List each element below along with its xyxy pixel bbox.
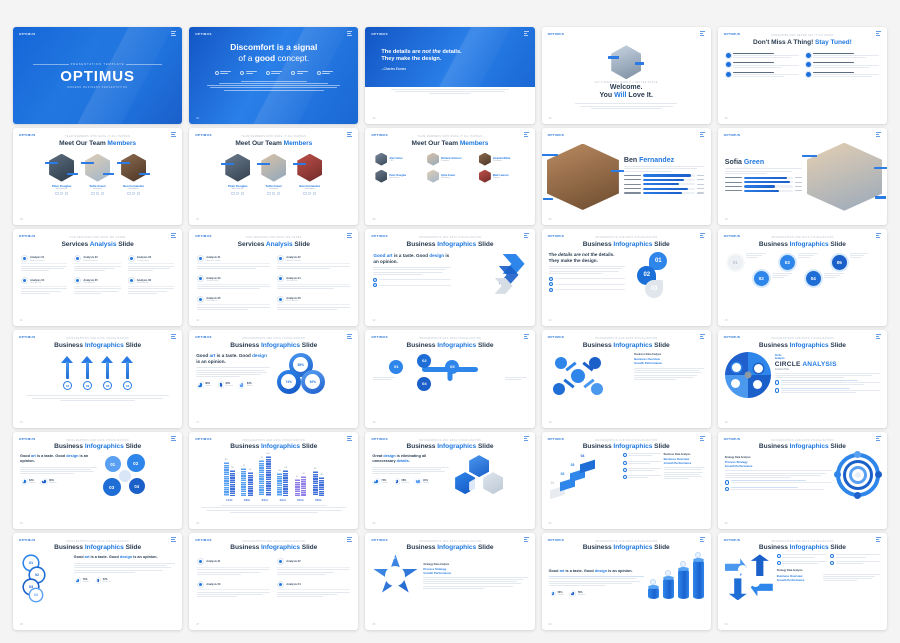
analysis-card[interactable]: Analysis 02 [277,558,350,576]
molecule-diagram [549,353,630,397]
skill-label [624,184,642,185]
slide-thumbnail-25[interactable]: OPTIMUS 25 INFOGRAPHICS AND DATA VISUALI… [718,432,887,529]
slide-thumbnail-1[interactable]: OPTIMUS PRESENTATION TEMPLATE OPTIMUS MO… [13,27,182,124]
slide-thumbnail-8[interactable]: OPTIMUS 08 TEAM MEMBERS WHO MAKE IT ALL … [365,128,534,225]
list-item[interactable] [549,282,626,286]
slide-title: Business Infographics Slide [718,544,887,551]
social-icons[interactable] [85,192,110,195]
check-icon [549,277,553,281]
trefoil-diagram: 85% 74% 92% [274,353,352,401]
circle-icon [277,558,284,565]
avatar [225,154,250,182]
list-item[interactable] [726,72,799,79]
social-icons[interactable] [297,192,322,195]
x-tick: 12m [224,498,235,502]
list-item[interactable] [623,468,661,472]
avatar [121,154,146,182]
list-item[interactable] [806,62,879,69]
slide-thumbnail-12[interactable]: OPTIMUS 12 OUR SERVICES AND WHAT WE OFFE… [189,229,358,326]
team-member-card[interactable]: Sofia Green Designer [85,154,110,195]
slide-thumbnail-19[interactable]: OPTIMUS 19 INFOGRAPHICS AND DATA VISUALI… [542,330,711,427]
circle-icon [240,71,244,75]
facebook-icon [127,192,130,195]
cylinder-bar [693,560,704,599]
facebook-icon [267,192,270,195]
slide-thumbnail-30[interactable]: OPTIMUS 30 INFOGRAPHICS AND DATA VISUALI… [718,533,887,630]
slide-thumbnail-27[interactable]: OPTIMUS 27 INFOGRAPHICS AND DATA VISUALI… [189,533,358,630]
feature-list [775,380,880,393]
profile-photo [547,144,619,210]
feature-item [317,71,334,75]
slide-thumbnail-20[interactable]: OPTIMUS 20 INFOGRAPHICS AND DATA VISUALI… [718,330,887,427]
donut-icon [216,381,224,389]
slide-kicker: INFOGRAPHICS AND DATA VISUALIZATION [365,338,534,340]
paragraph [423,577,527,589]
list-item[interactable] [830,561,880,565]
team-member-card[interactable]: Amanda WhiteDeveloper [479,153,525,166]
service-card[interactable]: Analysis 02Market Research [74,255,120,273]
x-tick: 06m [295,498,306,502]
services-grid: Analysis 01Business Growth Analysis 02Ma… [13,255,182,295]
stat-item: 58%Revenue [393,478,410,486]
slide-thumbnail-14[interactable]: OPTIMUS 14 INFOGRAPHICS AND DATA VISUALI… [542,229,711,326]
arrow-diagram [456,253,526,297]
donut-icon [372,478,380,486]
node-02[interactable]: 02 [127,454,145,472]
service-card[interactable]: Analysis 01Business Growth [21,255,67,273]
slide-body: INFOGRAPHICS AND DATA VISUALIZATION Busi… [542,432,711,529]
slide-body: The details are not the details. They ma… [365,27,534,124]
team-member-card[interactable]: Ben Fernandez Developer [121,154,146,195]
service-card[interactable]: Analysis 04Strategy Plan [277,275,350,290]
step-arrow-04[interactable]: 04 [121,356,134,391]
section-heading: Good art is a taste. Good design is an o… [196,353,270,364]
welcome-title: Welcome. [610,84,643,92]
check-icon [373,278,377,282]
team-member-card[interactable]: Richard JohnsonDesigner [427,153,473,166]
stairs-midlist [623,453,661,499]
team-member-card[interactable]: Ben Fernandez Developer [297,154,322,195]
facebook-icon [303,192,306,195]
circle-icon [291,71,295,75]
bullet-icon [806,72,811,77]
x-tick: 25m [259,498,270,502]
bullet-icon [726,62,731,67]
slide-kicker: INFOGRAPHICS AND DATA VISUALIZATION [13,440,182,442]
list-item[interactable] [775,388,880,394]
side-subtitle-2: Growth Performance [777,578,820,582]
skill-label [624,188,642,189]
skill-row [725,190,802,192]
clock-icon [74,255,81,262]
bullet-icon [725,487,729,491]
skill-value [697,175,703,176]
circles-chain-diagram: 01 02 03 04 [20,555,70,601]
team-member-card[interactable]: Alex CarterCEO [375,153,421,166]
social-icons[interactable] [121,192,146,195]
twitter-icon [236,192,239,195]
list-item[interactable] [725,480,832,484]
slide-title: Services Analysis Slide [13,241,182,248]
clock-icon [128,277,135,284]
check-icon [277,296,284,303]
slide-body: INFOGRAPHICS AND DATA VISUALIZATION Busi… [718,432,887,529]
check-icon [277,275,284,282]
section-heading: Good art is a taste. Good design is an o… [373,253,451,264]
stairs-diagram: 01 02 03 04 [548,453,620,499]
bullet-icon [777,554,781,558]
section-heading: Good art is a taste. Good design is an o… [20,454,97,463]
slide-thumbnail-15[interactable]: OPTIMUS 15 INFOGRAPHICS AND DATA VISUALI… [718,229,887,326]
skill-row [725,185,802,187]
skill-list [624,174,704,194]
service-card[interactable]: Analysis 06Brand Identity [128,277,174,295]
paragraph [20,467,97,474]
skill-value [697,192,703,193]
social-icons[interactable] [225,192,250,195]
slide-body: OUR SERVICES AND WHAT WE OFFER Services … [189,229,358,326]
step-badge-05[interactable]: 05 [832,255,847,270]
stat-item: 52%Revenue [94,577,111,585]
circle-icon [266,71,270,75]
list-item[interactable] [549,277,626,281]
slide-title: Don't Miss A Thing! Stay Tuned! [718,39,887,46]
skill-list [725,177,802,192]
list-item[interactable] [623,453,661,457]
team-member-card[interactable]: Peter DouglasArt Director [375,170,421,183]
skill-row [624,192,704,194]
list-item[interactable] [726,62,799,69]
circle-analysis-diagram [725,352,771,398]
analysis-card[interactable]: Analysis 01 [197,558,270,576]
team-member-card[interactable]: Peter Douglas Art Director [49,154,74,195]
slide-title: Business Infographics Slide [365,342,534,349]
slide-body: INFOGRAPHICS AND DATA VISUALIZATION Busi… [189,533,358,630]
slide-title: Services Analysis Slide [189,241,358,248]
slide-body: Sofia Green [718,128,887,225]
skill-row [624,179,704,181]
node-icon [665,570,671,576]
accent-bar [608,56,619,58]
slide-body: INFOGRAPHICS AND DATA VISUALIZATION Busi… [365,229,534,326]
feature-item [215,71,232,75]
slide-thumbnail-18[interactable]: OPTIMUS 18 INFOGRAPHICS AND DATA VISUALI… [365,330,534,427]
skill-value [795,190,801,191]
linkedin-icon [65,192,68,195]
bullet-icon [623,453,627,457]
slide-body: Ben Fernandez [542,128,711,225]
node-02[interactable]: 02 [417,354,431,368]
node-01[interactable]: 01 [105,456,121,472]
mini-stats: 62%Growth 80%Revenue [20,478,97,486]
node-03[interactable]: 03 [103,478,121,496]
paragraph [372,467,449,474]
donut-icon [20,478,28,486]
donut-icon [569,590,577,598]
service-card[interactable]: Analysis 01Business Growth [197,255,270,270]
skill-label [624,192,642,193]
step-text [850,253,868,260]
x-tick: 48m [241,498,252,502]
social-icons[interactable] [261,192,286,195]
bullet-list [718,53,887,79]
cylinder-bar [663,578,674,599]
footer-paragraph [198,505,349,512]
slide-thumbnail-17[interactable]: OPTIMUS 17 INFOGRAPHICS AND DATA VISUALI… [189,330,358,427]
node-icon [695,552,701,558]
slide-thumbnail-7[interactable]: OPTIMUS 07 TEAM MEMBERS WHO MAKE IT ALL … [189,128,358,225]
service-card[interactable]: Analysis 04Strategy Plan [21,277,67,295]
service-card[interactable]: Analysis 05Data Reports [74,277,120,295]
stat-item: 80%Revenue [40,478,57,486]
list-item[interactable] [806,72,879,79]
bar-chart-labels: 12m 48m 25m 10m 06m 08m [189,498,358,502]
social-icons[interactable] [49,192,74,195]
team-member-card[interactable]: Sofia GreenMarketing [427,170,473,183]
skill-value [697,179,703,180]
list-item[interactable] [373,278,451,282]
ring-chart-left[interactable]: 74% [277,370,301,394]
section-heading-2: They make the design. [549,258,626,264]
service-card[interactable]: Analysis 02Market Research [277,255,350,270]
list-item[interactable] [623,475,661,479]
paragraph [823,574,880,583]
slide-body: TEAM MEMBERS WHO MAKE IT ALL HAPPEN Meet… [189,128,358,225]
node-04[interactable]: 04 [417,377,431,391]
slide-thumbnail-4[interactable]: OPTIMUS 04 LET'S MAKE THE WORLD A BETTER… [542,27,711,124]
slide-kicker: INFOGRAPHICS AND DATA VISUALIZATION [189,338,358,340]
list-item[interactable] [777,561,827,565]
hub-diagram: 01 02 03 04 [365,353,534,397]
list-item[interactable] [806,53,879,60]
slide-body: INFOGRAPHICS AND DATA VISUALIZATION Busi… [13,330,182,427]
slide-kicker: INFOGRAPHICS AND DATA VISUALIZATION [365,541,534,543]
list-item[interactable] [777,554,827,558]
slide-thumbnail-9[interactable]: OPTIMUS 09 Ben Fernandez [542,128,711,225]
slide-thumbnail-10[interactable]: OPTIMUS 10 Sofia Green [718,128,887,225]
step-badge-04[interactable]: 04 [806,271,821,286]
skill-row [725,177,802,179]
team-member-role: Art Director [225,188,250,190]
slide-kicker: INFOGRAPHICS AND DATA VISUALIZATION [542,541,711,543]
slide-thumbnail-29[interactable]: OPTIMUS 29 INFOGRAPHICS AND DATA VISUALI… [542,533,711,630]
team-member-role: Developer [121,188,146,190]
team-member-role: Designer [441,160,461,162]
paragraph [196,367,270,377]
node-01[interactable]: 01 [389,360,403,374]
ring-chart-right[interactable]: 92% [301,370,325,394]
skill-row [624,183,704,185]
slide-thumbnail-21[interactable]: OPTIMUS 21 INFOGRAPHICS AND DATA VISUALI… [13,432,182,529]
node-04[interactable]: 04 [129,478,145,494]
mini-stats: 70%Growth 52%Revenue [74,577,176,585]
bullet-icon [726,72,731,77]
cover-title: OPTIMUS [60,69,135,84]
node-text [505,377,527,381]
slide-thumbnail-22[interactable]: OPTIMUS 22 INFOGRAPHICS AND DATA VISUALI… [189,432,358,529]
quote-paragraph [381,89,518,94]
services-grid: Analysis 01Business Growth Analysis 02Ma… [189,255,358,311]
check-icon [197,275,204,282]
bubble-diagram: 01 02 03 04 [101,454,175,500]
slide-title: Business Infographics Slide [13,443,182,450]
team-member-role: Designer [85,188,110,190]
service-card[interactable]: Analysis 03Creative Ideas [128,255,174,273]
bullet-icon [806,53,811,58]
bar-group: 6448 [313,471,324,496]
team-member-card[interactable]: Peter Douglas Art Director [225,154,250,195]
slide-body: INFOGRAPHICS AND DATA VISUALIZATION Busi… [365,432,534,529]
slide-body: TEAM MEMBERS WHO MAKE IT ALL HAPPEN Meet… [13,128,182,225]
blob-diagram: 01 02 03 [629,252,703,300]
step-arrow-01[interactable]: 01 [61,356,74,391]
list-item[interactable] [373,283,451,287]
slide-title: Business Infographics Slide [365,443,534,450]
stat-item: 45%Revenue [216,381,233,389]
slide-body: INFOGRAPHICS AND DATA VISUALIZATION Busi… [13,432,182,529]
circle-icon [197,581,204,588]
bullet-icon [623,475,627,479]
analysis-grid: Analysis 01 Analysis 02 Analysis 03 Anal… [189,558,358,598]
slide-title: Business Infographics Slide [189,443,358,450]
slide-title: Business Infographics Slide [542,342,711,349]
circle-icon [197,558,204,565]
cylinder-chart [648,555,704,599]
slide-body: TEAM MEMBERS WHO MAKE IT ALL HAPPEN Meet… [365,128,534,225]
side-title: Business Data Analysis [634,353,704,356]
step-text [798,253,818,260]
step-badge-03[interactable]: 03 [645,280,663,298]
slide-title: Business Infographics Slide [365,544,534,551]
eyebrow-2: Analysis [775,357,880,360]
list-item[interactable] [623,461,661,465]
team-member-card[interactable]: Mark LawsonSupport [479,170,525,183]
skill-label [725,182,742,183]
slide-thumbnail-23[interactable]: OPTIMUS 23 INFOGRAPHICS AND DATA VISUALI… [365,432,534,529]
list-item[interactable] [725,487,832,491]
service-card[interactable]: Analysis 05Data Reports [197,296,270,311]
slide-kicker: INFOGRAPHICS AND DATA VISUALIZATION [189,541,358,543]
slide-thumbnail-28[interactable]: OPTIMUS 28 INFOGRAPHICS AND DATA VISUALI… [365,533,534,630]
bullet-icon [830,561,834,565]
side-subtitle-2: Growth Performance [664,461,705,465]
section-heading: Good art is a taste. Good design is an o… [549,569,644,574]
service-card[interactable]: Analysis 03Creative Ideas [197,275,270,290]
circle-icon [317,71,321,75]
skill-label [725,186,742,187]
twitter-icon [132,192,135,195]
side-subtitle-2: Growth Performance [423,571,527,575]
list-item[interactable] [775,380,880,386]
skill-value [795,182,801,183]
donut-icon [94,577,102,585]
team-member-role: Developer [297,188,322,190]
skill-value [697,184,703,185]
node-icon [650,579,656,585]
slide-thumbnail-11[interactable]: OPTIMUS 11 OUR SERVICES AND WHAT WE OFFE… [13,229,182,326]
analysis-card[interactable]: Analysis 04 [277,581,350,599]
slide-title: Business Infographics Slide [365,241,534,248]
side-title: Strategy Data Analysis [423,563,527,566]
slide-body: LET'S MAKE THE WORLD A BETTER PLACE Welc… [542,27,711,124]
list-item[interactable] [830,554,880,558]
slide-body: INFOGRAPHICS AND DATA VISUALIZATION Busi… [718,330,887,427]
facebook-icon [91,192,94,195]
step-arrow-03[interactable]: 03 [101,356,114,391]
slide-thumbnail-13[interactable]: OPTIMUS 13 INFOGRAPHICS AND DATA VISUALI… [365,229,534,326]
team-row: Peter Douglas Art Director Sofia Green D… [13,154,182,195]
slide-thumbnail-16[interactable]: OPTIMUS 16 INFOGRAPHICS AND DATA VISUALI… [13,330,182,427]
paragraph [725,470,832,477]
team-member-card[interactable]: Sofia Green Designer [261,154,286,195]
step-arrow-02[interactable]: 02 [81,356,94,391]
slide-title: Business Infographics Slide [13,544,182,551]
feature-list [725,480,832,491]
stat-item: 56%Growth [549,590,564,598]
slide-body: INFOGRAPHICS AND DATA VISUALIZATION Busi… [365,330,534,427]
node-text [373,377,395,381]
slide-thumbnail-26[interactable]: OPTIMUS 26 INFOGRAPHICS AND DATA VISUALI… [13,533,182,630]
service-card[interactable]: Analysis 06Brand Identity [277,296,350,311]
analysis-card[interactable]: Analysis 03 [197,581,270,599]
bar-group: 92100 [259,456,270,496]
paragraph [775,373,880,378]
list-item[interactable] [726,53,799,60]
circle-icon [215,71,219,75]
clock-icon [21,277,28,284]
slide-title: Business Infographics Slide [542,443,711,450]
avatar [611,45,641,79]
step-badge-03[interactable]: 03 [780,255,795,270]
node-04[interactable]: 04 [30,589,42,601]
skill-row [624,174,704,176]
step-badge-02[interactable]: 02 [754,271,769,286]
step-badge-01[interactable]: 01 [728,255,743,270]
mini-stats: 74%Growth 58%Revenue 91%Market [372,478,449,486]
slide-body: OUR SERVICES AND WHAT WE OFFER Services … [13,229,182,326]
team-member-role: Developer [493,160,510,162]
slide-thumbnail-5[interactable]: OPTIMUS 05 SUBSCRIBE AND NEVER LET IT GO… [718,27,887,124]
slide-kicker: TEAM MEMBERS WHO MAKE IT ALL HAPPEN [13,136,182,138]
paragraph [74,563,176,573]
slide-body: INFOGRAPHICS AND DATA VISUALIZATION Busi… [365,533,534,630]
slide-body: INFOGRAPHICS AND DATA VISUALIZATION Busi… [189,330,358,427]
slide-body: INFOGRAPHICS AND DATA VISUALIZATION Busi… [189,432,358,529]
linkedin-icon [137,192,140,195]
statement-line-1: Discomfort is a signal [198,43,349,53]
paragraph [549,576,644,586]
slide-thumbnail-24[interactable]: OPTIMUS 24 INFOGRAPHICS AND DATA VISUALI… [542,432,711,529]
linkedin-icon [277,192,280,195]
slide-title: Meet Our Team Members [189,140,358,147]
bar-chart: 8666 7260 92100 5866 4250 6448 [189,454,358,496]
slide-kicker: OUR SERVICES AND WHAT WE OFFER [189,237,358,239]
profile-name: Sofia Green [725,159,802,166]
slide-thumbnail-2[interactable]: OPTIMUS 02 Discomfort is a signal of a g… [189,27,358,124]
check-list [549,277,626,292]
slide-kicker: INFOGRAPHICS AND DATA VISUALIZATION [542,338,711,340]
list-item[interactable] [549,288,626,292]
team-member-role: Marketing [441,177,455,179]
profile-bio [725,168,802,173]
paragraph [664,467,705,479]
section-heading: The details are not the details. [549,252,626,258]
slide-kicker: INFOGRAPHICS AND DATA VISUALIZATION [365,440,534,442]
slide-thumbnail-6[interactable]: OPTIMUS 06 TEAM MEMBERS WHO MAKE IT ALL … [13,128,182,225]
slide-thumbnail-3[interactable]: OPTIMUS 03 The details are not the detai… [365,27,534,124]
skill-label [624,175,642,176]
clock-icon [128,255,135,262]
